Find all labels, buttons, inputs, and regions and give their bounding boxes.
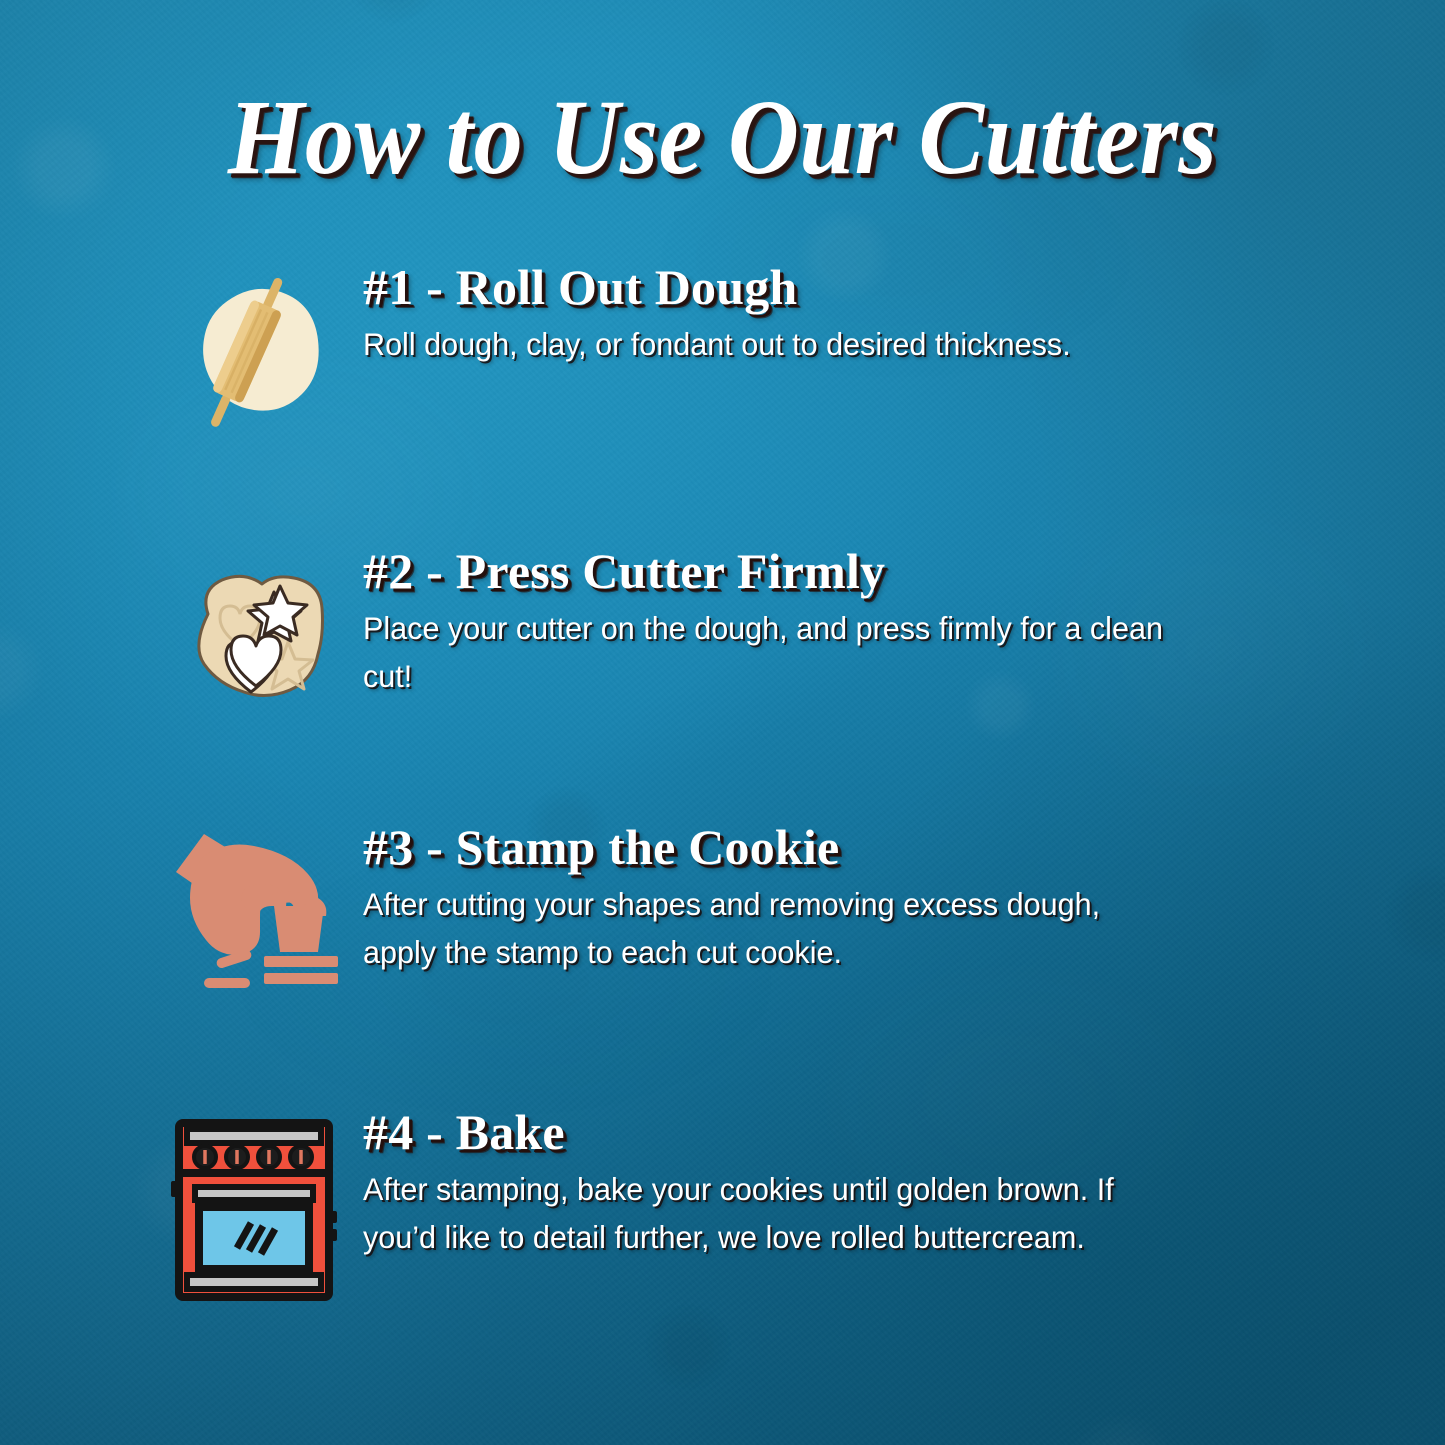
- infographic-poster: How to Use Our Cutters: [0, 0, 1445, 1445]
- page-title: How to Use Our Cutters: [58, 82, 1387, 194]
- list-item: #3 - Stamp the Cookie After cutting your…: [155, 826, 1285, 1111]
- step-3-text: #3 - Stamp the Cookie After cutting your…: [355, 820, 1285, 977]
- step-body: Roll dough, clay, or fondant out to desi…: [363, 321, 1178, 369]
- list-item: #1 - Roll Out Dough Roll dough, clay, or…: [155, 258, 1285, 548]
- step-heading: #4 - Bake: [363, 1105, 1285, 1160]
- dough-with-cutters-icon: [170, 556, 340, 721]
- list-item: #4 - Bake After stamping, bake your cook…: [155, 1111, 1285, 1341]
- step-body: After stamping, bake your cookies until …: [363, 1166, 1178, 1262]
- step-1-text: #1 - Roll Out Dough Roll dough, clay, or…: [355, 252, 1285, 369]
- poster-content: How to Use Our Cutters: [0, 0, 1445, 1445]
- step-heading: #1 - Roll Out Dough: [363, 260, 1285, 315]
- step-heading: #3 - Stamp the Cookie: [363, 820, 1285, 875]
- hand-stamp-icon: [168, 828, 343, 1003]
- step-heading: #2 - Press Cutter Firmly: [363, 544, 1285, 599]
- step-4-text: #4 - Bake After stamping, bake your cook…: [355, 1105, 1285, 1262]
- list-item: #2 - Press Cutter Firmly Place your cutt…: [155, 548, 1285, 826]
- step-body: After cutting your shapes and removing e…: [363, 881, 1178, 977]
- oven-icon: [165, 1115, 345, 1305]
- rolling-pin-dough-icon: [170, 268, 340, 438]
- step-2-text: #2 - Press Cutter Firmly Place your cutt…: [355, 542, 1285, 701]
- step-3-icon-wrap: [155, 826, 355, 1003]
- step-2-icon-wrap: [155, 548, 355, 721]
- step-body: Place your cutter on the dough, and pres…: [363, 605, 1178, 701]
- step-1-icon-wrap: [155, 258, 355, 438]
- steps-list: #1 - Roll Out Dough Roll dough, clay, or…: [155, 258, 1285, 1341]
- step-4-icon-wrap: [155, 1111, 355, 1305]
